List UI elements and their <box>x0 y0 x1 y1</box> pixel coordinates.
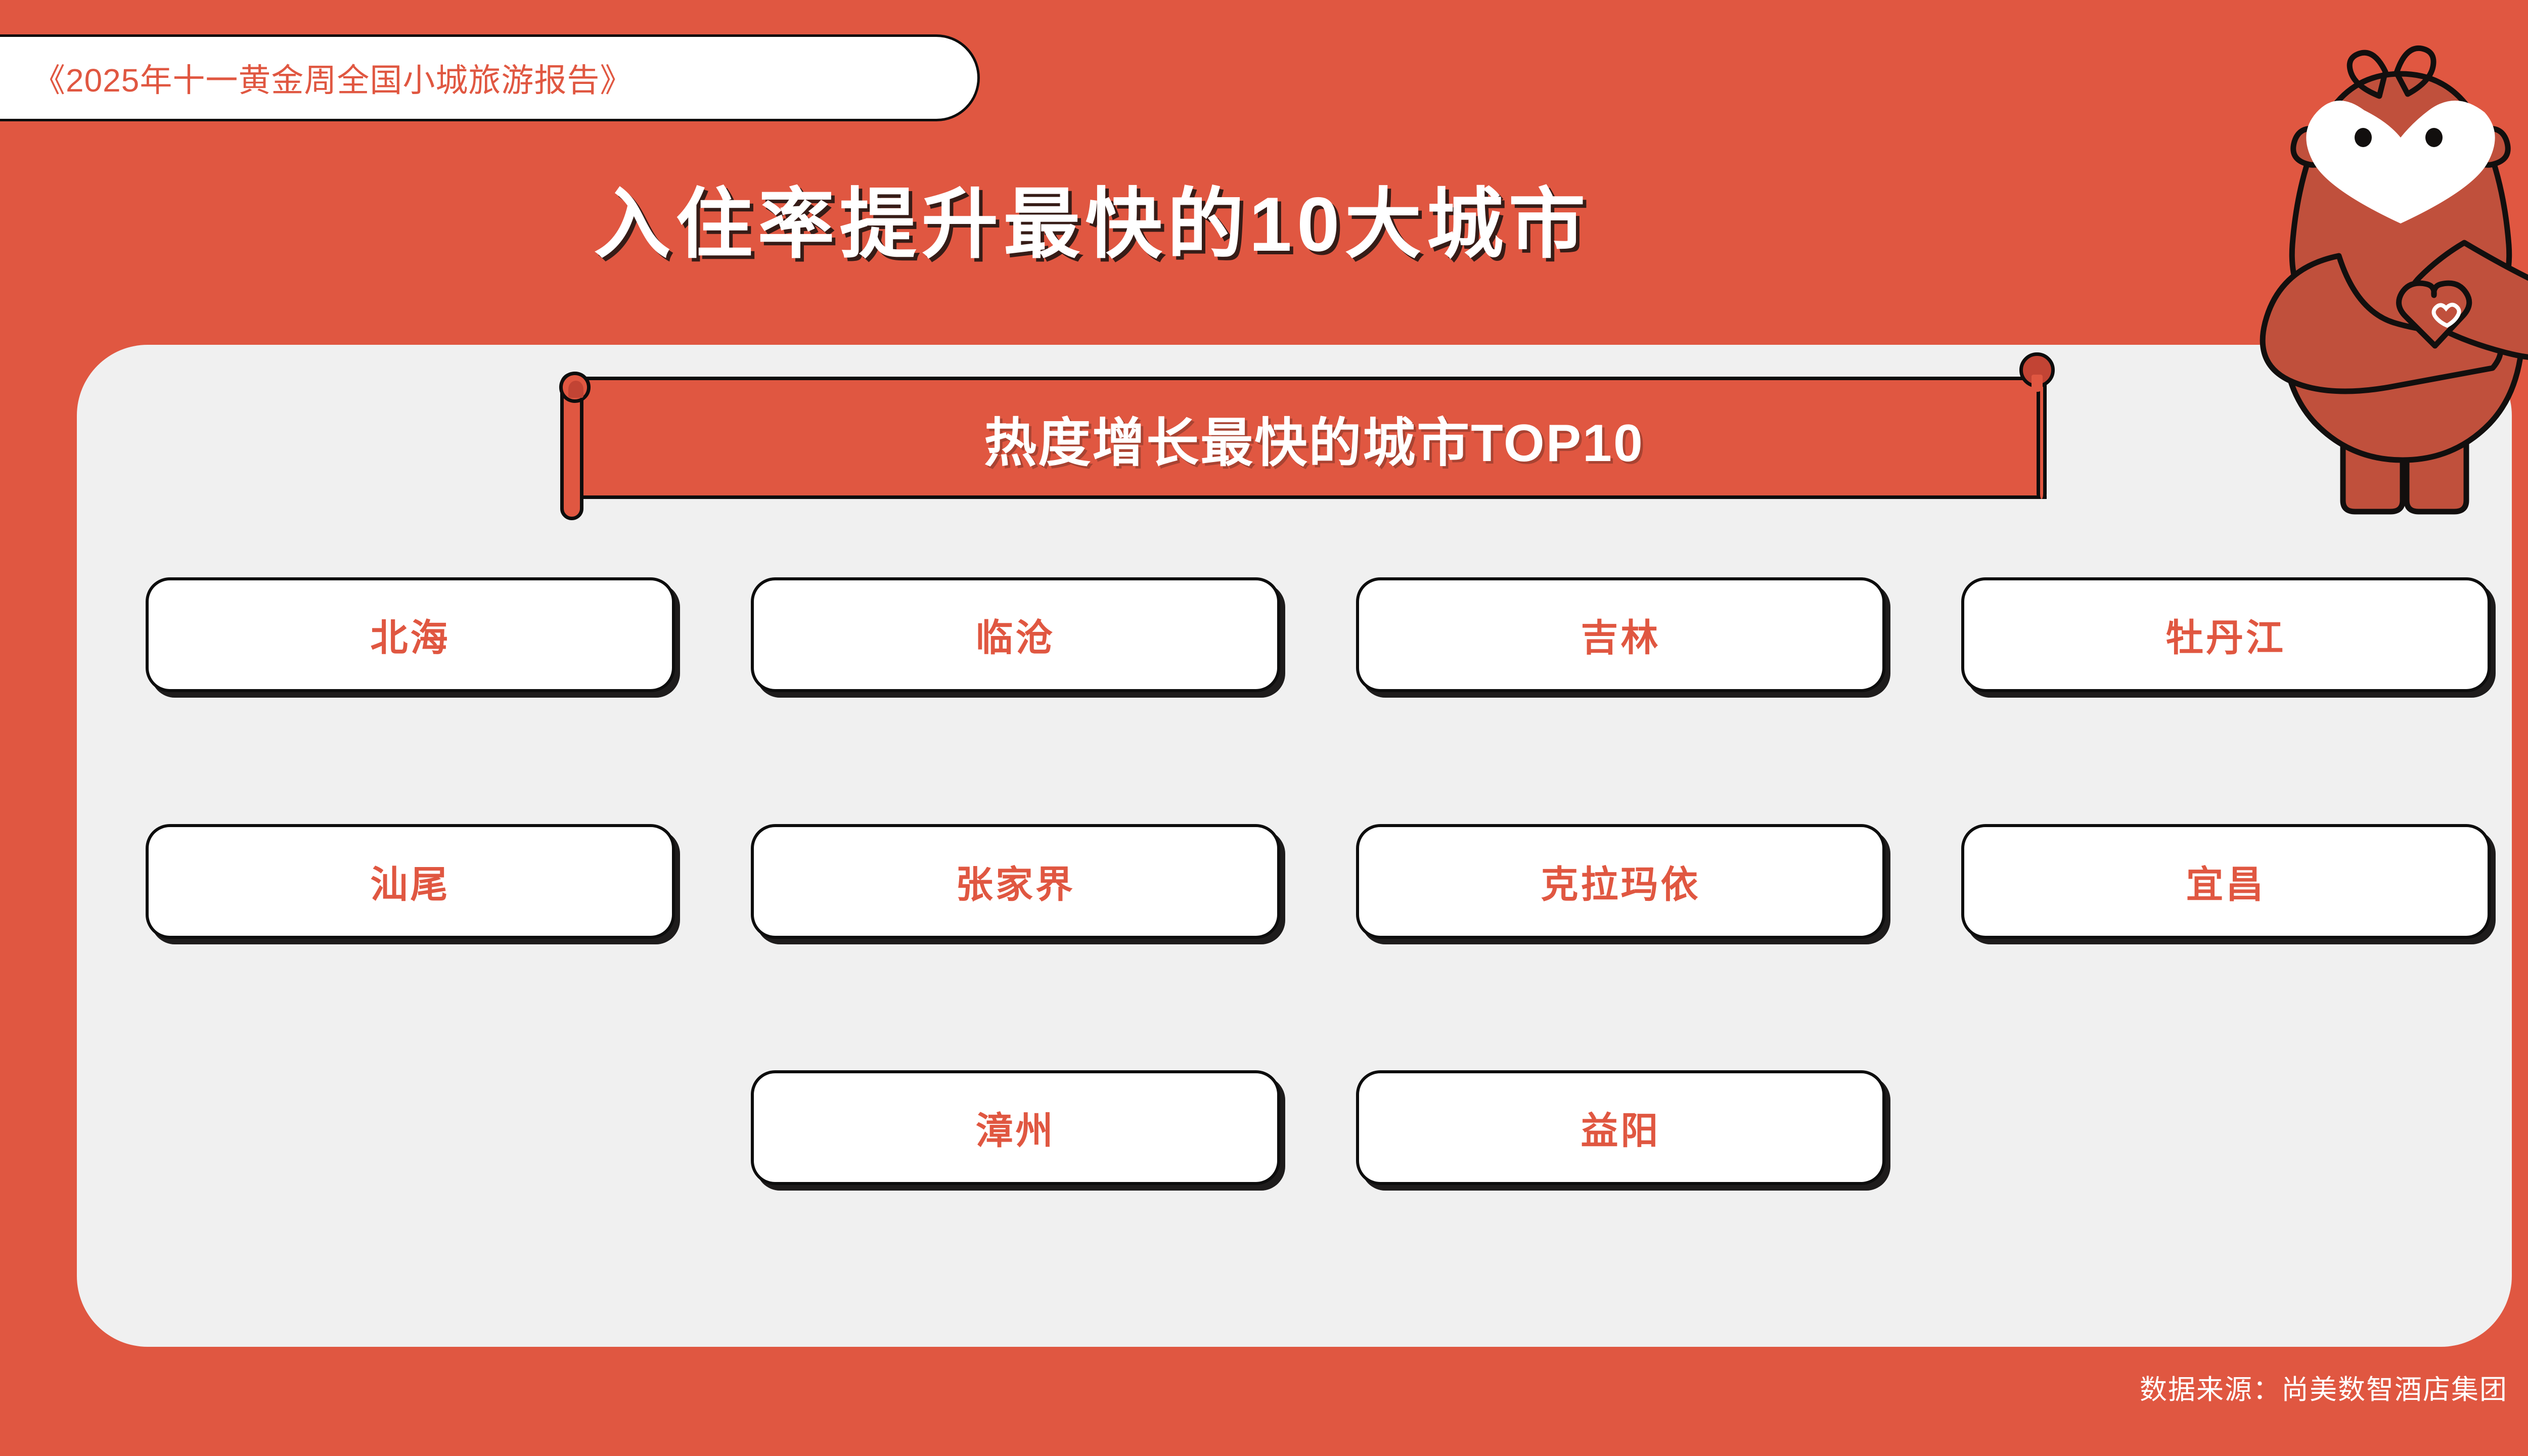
infographic-canvas: 《2025年十一黄金周全国小城旅游报告》 入住率提升最快的10大城市 热度增长最… <box>0 0 2528 1456</box>
mascot-paw-heart-icon <box>2434 305 2459 326</box>
city-name: 牡丹江 <box>2166 608 2286 662</box>
mascot-face-patch <box>2306 101 2495 223</box>
city-card[interactable]: 牡丹江 <box>1961 577 2491 692</box>
section-banner: 热度增长最快的城市TOP10 <box>560 377 2047 499</box>
city-card[interactable]: 临沧 <box>751 577 1280 692</box>
city-card[interactable]: 益阳 <box>1356 1070 1885 1185</box>
city-card[interactable]: 宜昌 <box>1961 824 2491 939</box>
city-name: 北海 <box>371 608 450 662</box>
section-banner-body: 热度增长最快的城市TOP10 <box>581 377 2047 499</box>
city-card[interactable]: 漳州 <box>751 1070 1280 1185</box>
report-title-text: 《2025年十一黄金周全国小城旅游报告》 <box>33 55 633 101</box>
banner-scroll-curl-left-inner-icon <box>568 381 583 398</box>
city-name: 克拉玛依 <box>1541 854 1701 908</box>
city-card[interactable]: 汕尾 <box>146 824 675 939</box>
city-card[interactable]: 吉林 <box>1356 577 1885 692</box>
city-card[interactable]: 张家界 <box>751 824 1280 939</box>
city-name: 吉林 <box>1581 608 1661 662</box>
city-card-row: 北海 临沧 吉林 牡丹江 <box>146 577 2491 692</box>
city-name: 益阳 <box>1581 1101 1661 1155</box>
banner-scroll-curl-right-inner-icon <box>2032 375 2043 392</box>
city-card-row: 汕尾 张家界 克拉玛依 宜昌 <box>146 824 2491 939</box>
report-title-badge: 《2025年十一黄金周全国小城旅游报告》 <box>0 34 980 121</box>
city-card[interactable]: 克拉玛依 <box>1356 824 1885 939</box>
city-name: 宜昌 <box>2186 854 2266 908</box>
page-title: 入住率提升最快的10大城市 <box>0 162 2184 273</box>
city-card[interactable]: 北海 <box>146 577 675 692</box>
section-banner-title: 热度增长最快的城市TOP10 <box>984 400 1644 476</box>
city-card-row: 漳州 益阳 <box>751 1070 1885 1185</box>
banner-scroll-rod-right-icon <box>2037 377 2047 499</box>
city-name: 张家界 <box>956 854 1075 908</box>
mascot-left-eye-icon <box>2355 128 2372 147</box>
city-name: 漳州 <box>976 1101 1056 1155</box>
data-source-note: 数据来源：尚美数智酒店集团 <box>2140 1367 2508 1407</box>
mascot-right-eye-icon <box>2425 128 2443 147</box>
city-name: 汕尾 <box>371 854 450 908</box>
city-name: 临沧 <box>976 608 1056 662</box>
